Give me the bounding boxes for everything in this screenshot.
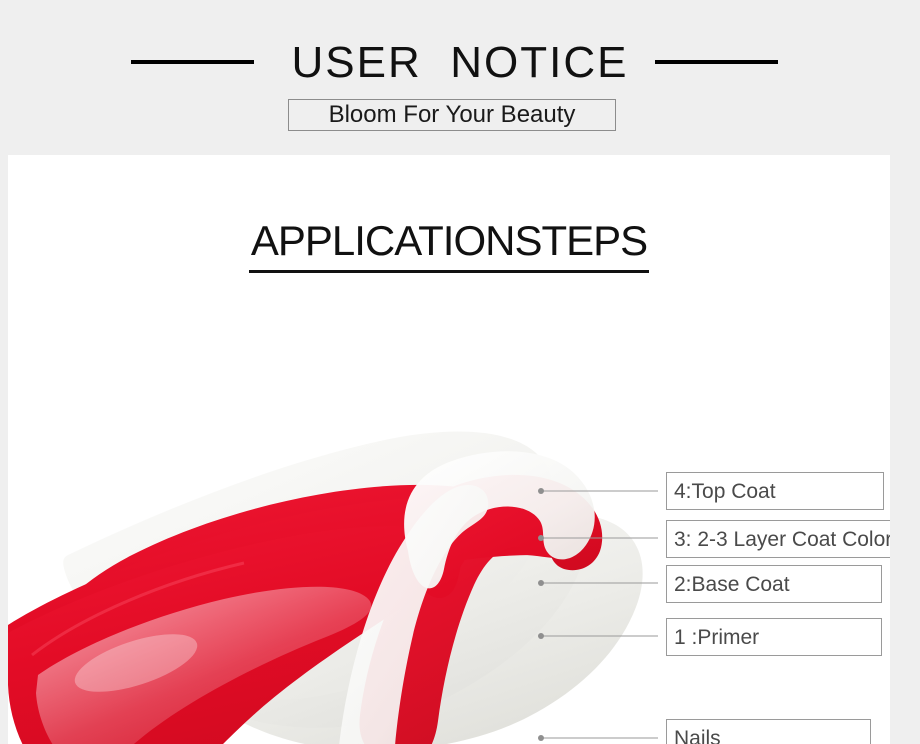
callout-box-layer-coat-color: 3: 2-3 Layer Coat Color [666,520,890,558]
tagline-box: Bloom For Your Beauty [288,99,616,131]
page-title: USER NOTICE [0,38,920,88]
callout-box-base-coat: 2:Base Coat [666,565,882,603]
tagline-text: Bloom For Your Beauty [289,100,615,130]
callout-box-primer: 1 :Primer [666,618,882,656]
callout-label: Nails [674,720,721,744]
callout-label: 1 :Primer [674,619,759,657]
page-root: USER NOTICE Bloom For Your Beauty APPLIC… [0,0,920,744]
callout-label: 2:Base Coat [674,566,790,604]
callout-box-top-coat: 4:Top Coat [666,472,884,510]
header-title-row: USER NOTICE [0,38,920,96]
callout-label: 3: 2-3 Layer Coat Color [674,521,890,559]
content-card: APPLICATIONSTEPS [8,155,890,744]
callout-label: 4:Top Coat [674,473,776,511]
callout-box-nails: Nails [666,719,871,744]
header-band: USER NOTICE Bloom For Your Beauty [0,0,920,155]
